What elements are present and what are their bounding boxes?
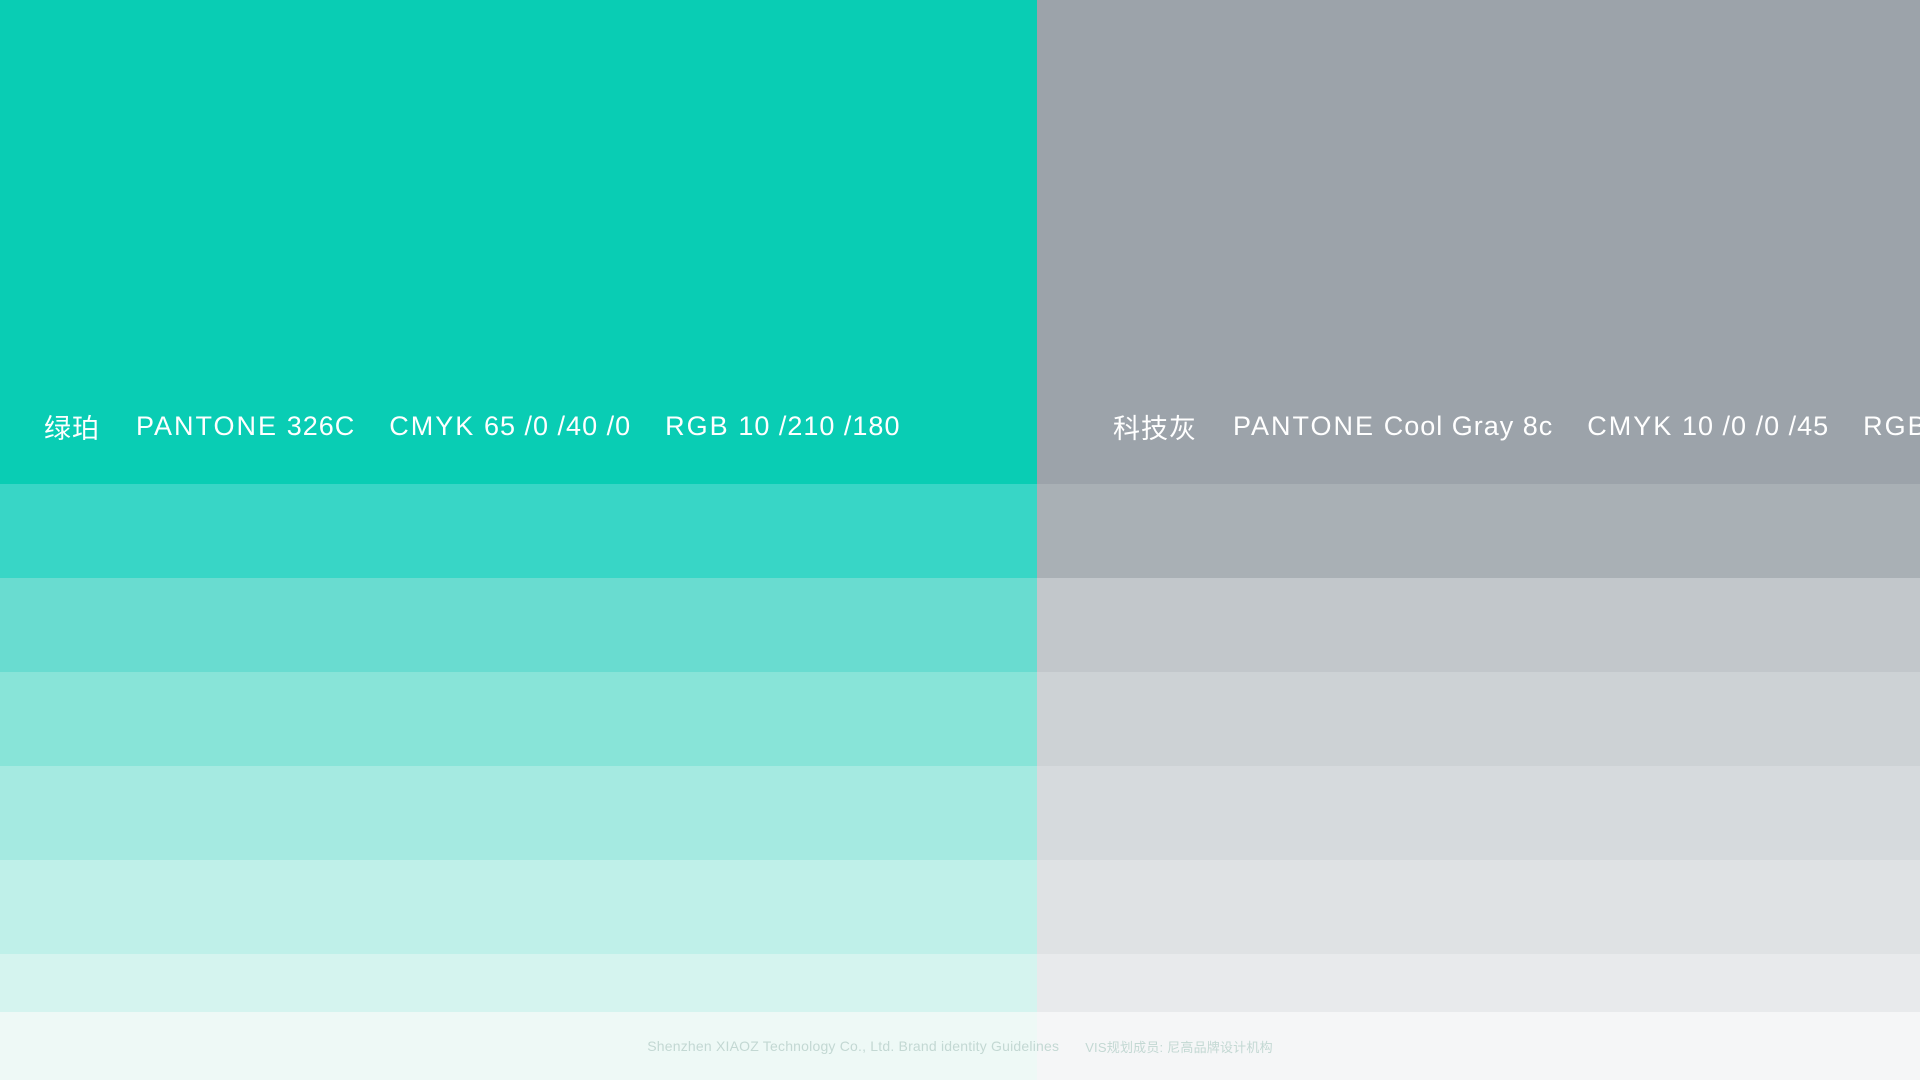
footer-credits: Shenzhen XIAOZ Technology Co., Ltd. Bran… bbox=[0, 1012, 1920, 1080]
tint-row bbox=[0, 860, 1037, 954]
field-value: Cool Gray 8c bbox=[1384, 411, 1554, 441]
color-column-gray: 科技灰 PANTONE Cool Gray 8c CMYK 10 /0 /0 /… bbox=[1037, 0, 1920, 1012]
tint-row bbox=[1037, 578, 1920, 672]
tint-row bbox=[0, 578, 1037, 672]
tint-row bbox=[1037, 766, 1920, 860]
color-field-pantone-gray: PANTONE Cool Gray 8c bbox=[1233, 411, 1553, 442]
color-field-rgb-green: RGB 10 /210 /180 bbox=[665, 411, 900, 442]
tint-row bbox=[0, 766, 1037, 860]
tint-row bbox=[1037, 860, 1920, 954]
field-value: 326C bbox=[287, 411, 356, 441]
field-key: CMYK bbox=[389, 411, 475, 441]
tint-row bbox=[1037, 954, 1920, 1012]
page-footer: Shenzhen XIAOZ Technology Co., Ltd. Bran… bbox=[0, 1012, 1920, 1080]
color-name-gray: 科技灰 bbox=[1113, 407, 1197, 446]
color-spec-label-green: 绿珀 PANTONE 326C CMYK 65 /0 /40 /0 RGB 10… bbox=[0, 404, 1037, 448]
field-key: RGB bbox=[665, 411, 730, 441]
tint-row bbox=[0, 484, 1037, 578]
color-field-cmyk-gray: CMYK 10 /0 /0 /45 bbox=[1587, 411, 1829, 442]
tint-row bbox=[0, 672, 1037, 766]
tint-row bbox=[1037, 672, 1920, 766]
swatch-columns: 绿珀 PANTONE 326C CMYK 65 /0 /40 /0 RGB 10… bbox=[0, 0, 1920, 1012]
color-swatch-main-green: 绿珀 PANTONE 326C CMYK 65 /0 /40 /0 RGB 10… bbox=[0, 0, 1037, 484]
color-name-green: 绿珀 bbox=[44, 407, 100, 446]
field-value: 65 /0 /40 /0 bbox=[484, 411, 631, 441]
color-field-pantone-green: PANTONE 326C bbox=[136, 411, 355, 442]
color-field-rgb-gray: RGB 155 bbox=[1863, 411, 1920, 442]
field-value: 10 /0 /0 /45 bbox=[1682, 411, 1829, 441]
field-key: PANTONE bbox=[136, 411, 278, 441]
color-column-green: 绿珀 PANTONE 326C CMYK 65 /0 /40 /0 RGB 10… bbox=[0, 0, 1037, 1012]
field-key: RGB bbox=[1863, 411, 1920, 441]
color-swatch-main-gray: 科技灰 PANTONE Cool Gray 8c CMYK 10 /0 /0 /… bbox=[1037, 0, 1920, 484]
field-value: 10 /210 /180 bbox=[738, 411, 900, 441]
color-palette-page: 绿珀 PANTONE 326C CMYK 65 /0 /40 /0 RGB 10… bbox=[0, 0, 1920, 1080]
footer-company-text: Shenzhen XIAOZ Technology Co., Ltd. Bran… bbox=[647, 1038, 1059, 1054]
footer-agency-text: VIS规划成员: 尼高品牌设计机构 bbox=[1085, 1037, 1273, 1056]
field-key: PANTONE bbox=[1233, 411, 1375, 441]
tint-row bbox=[1037, 484, 1920, 578]
field-key: CMYK bbox=[1587, 411, 1673, 441]
color-field-cmyk-green: CMYK 65 /0 /40 /0 bbox=[389, 411, 631, 442]
tint-row bbox=[0, 954, 1037, 1012]
color-spec-label-gray: 科技灰 PANTONE Cool Gray 8c CMYK 10 /0 /0 /… bbox=[1037, 404, 1920, 448]
